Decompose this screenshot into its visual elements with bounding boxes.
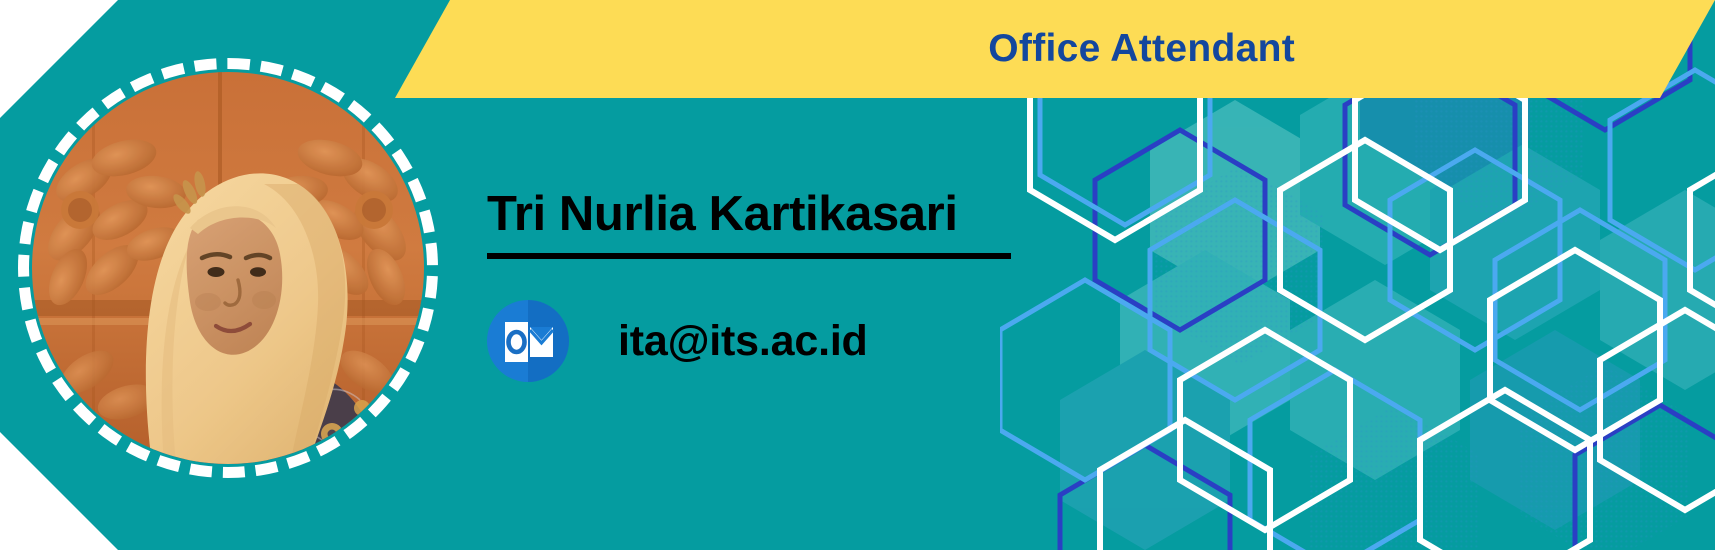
email-row[interactable]: ita@its.ac.id	[487, 300, 868, 382]
avatar	[18, 58, 438, 478]
avatar-dashed-ring	[18, 58, 438, 478]
person-name: Tri Nurlia Kartikasari	[487, 188, 1011, 241]
job-title-banner: Office Attendant	[395, 0, 1715, 98]
email-address[interactable]: ita@its.ac.id	[618, 317, 868, 366]
name-block: Tri Nurlia Kartikasari	[487, 188, 1011, 259]
outlook-icon[interactable]	[487, 300, 569, 382]
profile-banner-card: Office Attendant	[0, 0, 1715, 550]
name-underline-rule	[487, 253, 1011, 259]
job-title-text: Office Attendant	[988, 27, 1295, 71]
